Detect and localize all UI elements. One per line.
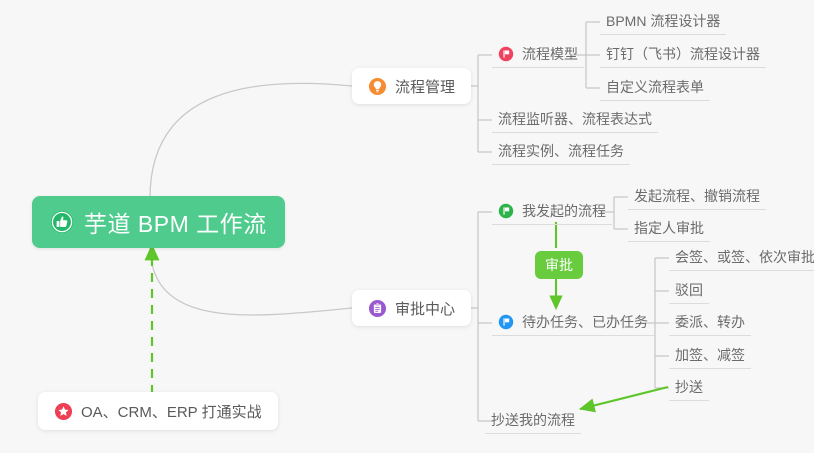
node-label: 抄送 bbox=[675, 377, 703, 397]
node-label: 发起流程、撤销流程 bbox=[634, 186, 760, 206]
clipboard-icon bbox=[368, 299, 387, 318]
node-my-initiated-process[interactable]: 我发起的流程 bbox=[492, 199, 612, 225]
link-root-to-approval-center bbox=[150, 245, 352, 315]
node-add-remove-sign[interactable]: 加签、减签 bbox=[669, 343, 751, 369]
node-cc-my-process[interactable]: 抄送我的流程 bbox=[485, 408, 581, 434]
node-delegate-transfer[interactable]: 委派、转办 bbox=[669, 310, 751, 336]
branch-process-management[interactable]: 流程管理 bbox=[352, 68, 471, 104]
node-carbon-copy[interactable]: 抄送 bbox=[669, 375, 709, 401]
node-label: 待办任务、已办任务 bbox=[522, 312, 648, 332]
node-label: 驳回 bbox=[675, 280, 703, 300]
star-icon bbox=[54, 402, 73, 421]
node-process-listener-expression[interactable]: 流程监听器、流程表达式 bbox=[492, 107, 658, 133]
node-label: 会签、或签、依次审批 bbox=[675, 247, 814, 267]
node-label: 指定人审批 bbox=[634, 218, 704, 238]
node-label: 流程实例、流程任务 bbox=[498, 141, 624, 161]
flag-icon-red bbox=[498, 46, 514, 62]
node-label: 加签、减签 bbox=[675, 345, 745, 365]
node-label: 钉钉（飞书）流程设计器 bbox=[606, 44, 760, 64]
node-label: 我发起的流程 bbox=[522, 201, 606, 221]
node-dingtalk-feishu-designer[interactable]: 钉钉（飞书）流程设计器 bbox=[600, 42, 766, 68]
node-label: 委派、转办 bbox=[675, 312, 745, 332]
node-reject[interactable]: 驳回 bbox=[669, 278, 709, 304]
node-countersign-orsign-sequential[interactable]: 会签、或签、依次审批 bbox=[669, 245, 814, 271]
node-todo-done-task[interactable]: 待办任务、已办任务 bbox=[492, 310, 654, 336]
branch-approval-center[interactable]: 审批中心 bbox=[352, 290, 471, 326]
thumbs-up-icon bbox=[50, 210, 74, 234]
approval-tag-label: 审批 bbox=[545, 255, 573, 275]
carbon-copy-arrow bbox=[580, 387, 668, 409]
node-label: 流程监听器、流程表达式 bbox=[498, 109, 652, 129]
branch-label: 审批中心 bbox=[395, 298, 455, 319]
node-bpmn-designer[interactable]: BPMN 流程设计器 bbox=[600, 9, 726, 35]
node-start-cancel-process[interactable]: 发起流程、撤销流程 bbox=[628, 184, 766, 210]
mindmap-canvas: 芋道 BPM 工作流 OA、CRM、ERP 打通实战 流程管理 bbox=[0, 0, 814, 453]
note-label: OA、CRM、ERP 打通实战 bbox=[81, 401, 262, 422]
root-node[interactable]: 芋道 BPM 工作流 bbox=[32, 196, 285, 248]
note-node[interactable]: OA、CRM、ERP 打通实战 bbox=[38, 392, 278, 430]
link-root-to-process-management bbox=[150, 83, 352, 198]
flag-icon-green bbox=[498, 203, 514, 219]
node-custom-process-form[interactable]: 自定义流程表单 bbox=[600, 75, 710, 101]
node-process-model[interactable]: 流程模型 bbox=[492, 42, 584, 68]
lightbulb-icon bbox=[368, 77, 387, 96]
node-assigned-approver[interactable]: 指定人审批 bbox=[628, 216, 710, 242]
flag-icon-blue bbox=[498, 314, 514, 330]
node-process-instance-task[interactable]: 流程实例、流程任务 bbox=[492, 139, 630, 165]
approval-tag[interactable]: 审批 bbox=[535, 251, 583, 279]
node-label: BPMN 流程设计器 bbox=[606, 11, 720, 31]
branch-label: 流程管理 bbox=[395, 76, 455, 97]
node-label: 抄送我的流程 bbox=[491, 410, 575, 430]
node-label: 流程模型 bbox=[522, 44, 578, 64]
root-label: 芋道 BPM 工作流 bbox=[84, 205, 267, 239]
node-label: 自定义流程表单 bbox=[606, 77, 704, 97]
